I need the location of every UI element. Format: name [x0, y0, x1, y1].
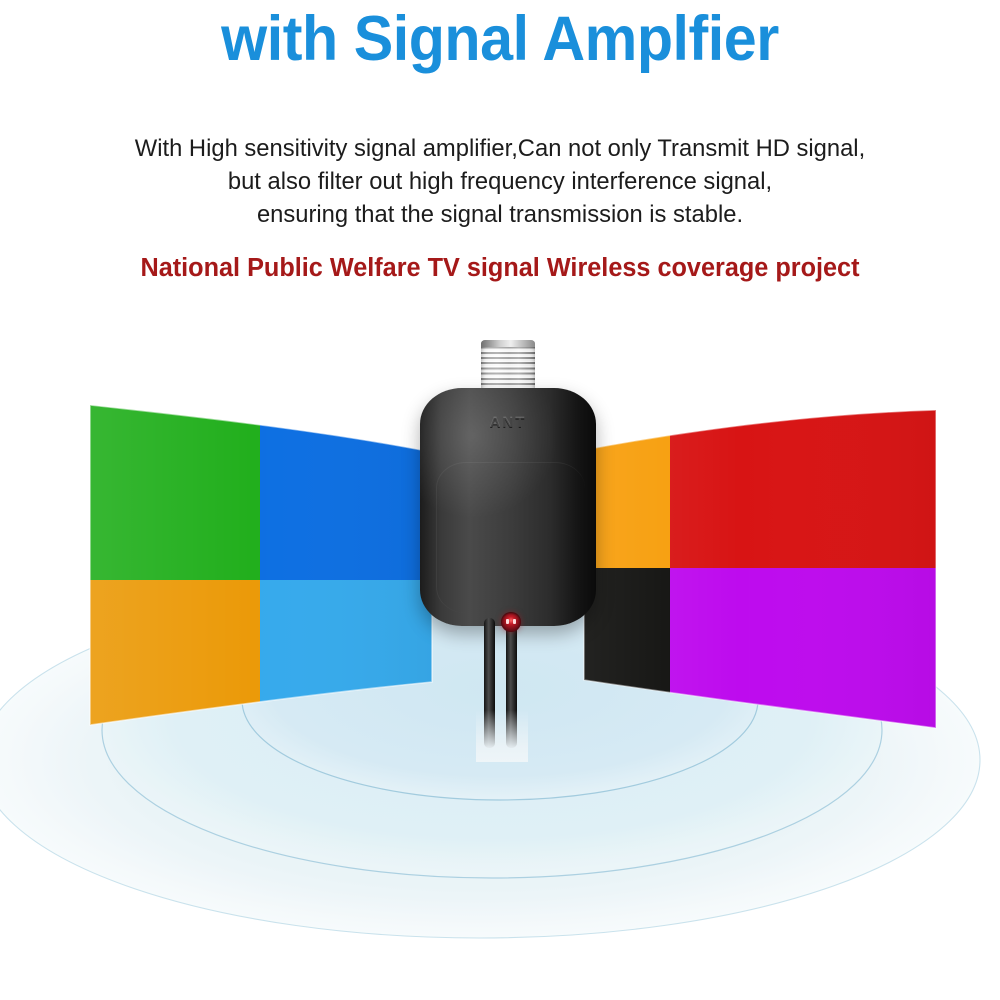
device-seam [436, 462, 585, 613]
product-infographic: with Signal Amplfier With High sensitivi… [0, 0, 1000, 1000]
cable-fade-overlay [476, 710, 528, 762]
connector-cap [481, 340, 535, 347]
description-line-3: ensuring that the signal transmission is… [64, 198, 937, 231]
description-line-2: but also filter out high frequency inter… [64, 165, 937, 198]
description-line-1: With High sensitivity signal amplifier,C… [64, 132, 937, 165]
tagline-text: National Public Welfare TV signal Wirele… [5, 252, 995, 284]
device-label: ANT [418, 414, 598, 431]
signal-amplifier-device: ANT [418, 340, 598, 670]
description-paragraph: With High sensitivity signal amplifier,C… [64, 132, 937, 231]
page-title: with Signal Amplfier [30, 4, 970, 74]
power-led-icon [501, 612, 521, 632]
